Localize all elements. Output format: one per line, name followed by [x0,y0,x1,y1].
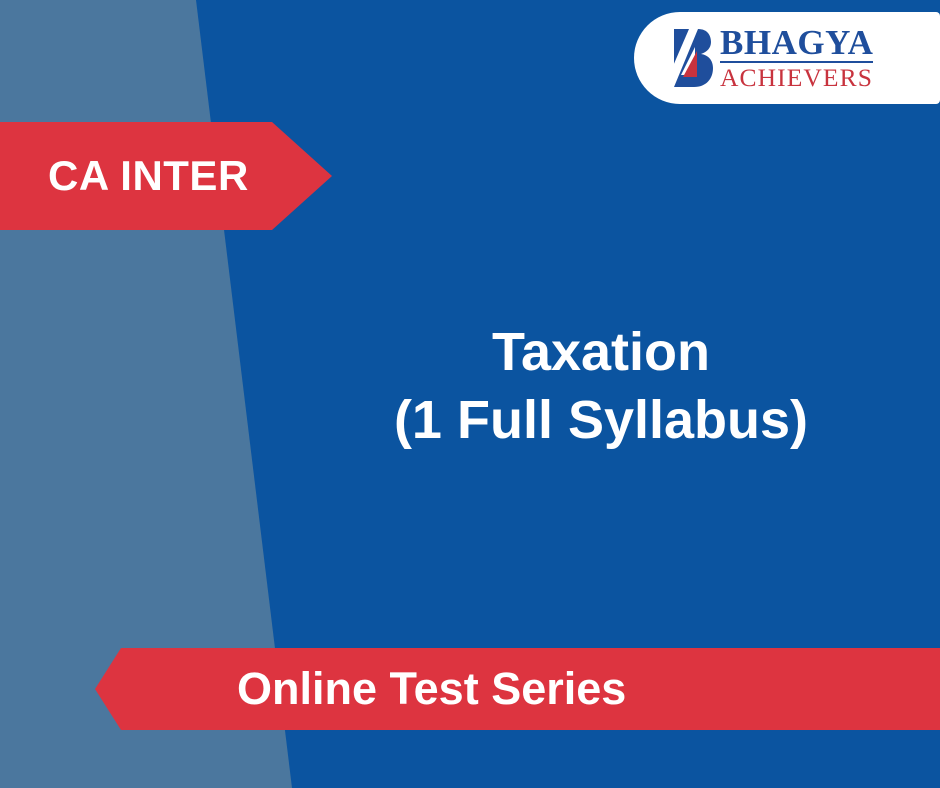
brand-name-secondary: ACHIEVERS [720,65,873,91]
promo-poster: BHAGYA ACHIEVERS CA INTER Taxation (1 Fu… [0,0,940,788]
brand-name-primary: BHAGYA [720,25,873,63]
course-level-label: CA INTER [48,122,249,230]
bhagya-achievers-monogram-icon [668,27,714,89]
brand-wordmark: BHAGYA ACHIEVERS [720,25,873,91]
brand-logo-card: BHAGYA ACHIEVERS [634,12,940,104]
product-type-ribbon: Online Test Series [95,648,940,730]
course-level-ribbon: CA INTER [0,122,332,230]
course-title: Taxation (1 Full Syllabus) [262,318,940,454]
course-title-line-1: Taxation [262,318,940,386]
product-type-label: Online Test Series [237,648,626,730]
course-title-line-2: (1 Full Syllabus) [262,386,940,454]
brand-logo-inner: BHAGYA ACHIEVERS [668,25,873,91]
